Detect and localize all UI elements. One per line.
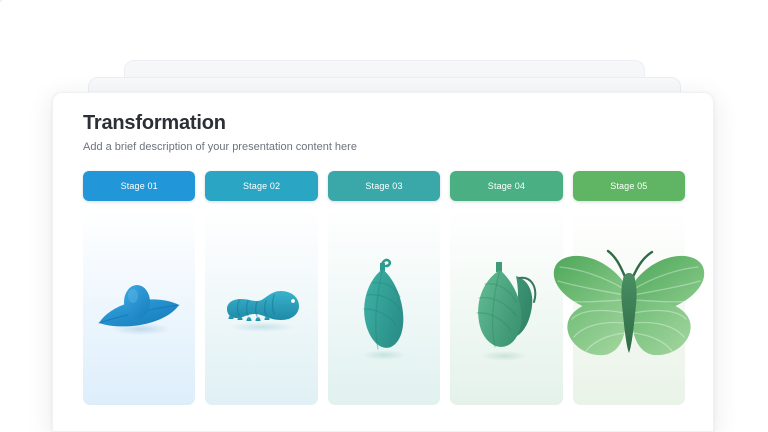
chrysalis-icon [351,249,417,365]
stage-column-3[interactable]: Stage 03 [328,171,440,405]
butterfly-icon [546,243,712,371]
page-title: Transformation [83,111,683,135]
stage-panel-3 [328,209,440,405]
stage-column-1[interactable]: Stage 01 [83,171,195,405]
stage-badge-4[interactable]: Stage 04 [450,171,562,201]
slide-card: Transformation Add a brief description o… [52,92,714,432]
butterfly-egg-on-leaf-icon [93,275,185,339]
stage-column-5[interactable]: Stage 05 [573,171,685,405]
caterpillar-icon [215,279,309,335]
stage-column-2[interactable]: Stage 02 [205,171,317,405]
stage-panel-2 [205,209,317,405]
stacked-card-back [0,0,2,2]
emerging-butterfly-icon [464,248,548,366]
slide-header: Transformation Add a brief description o… [83,111,683,155]
stage-panel-5 [573,209,685,405]
stage-badge-5[interactable]: Stage 05 [573,171,685,201]
stage-badge-3[interactable]: Stage 03 [328,171,440,201]
page-subtitle: Add a brief description of your presenta… [83,139,683,155]
stage-badge-2[interactable]: Stage 02 [205,171,317,201]
stages-row: Stage 01 [83,171,685,405]
stage-badge-1[interactable]: Stage 01 [83,171,195,201]
stage-panel-1 [83,209,195,405]
